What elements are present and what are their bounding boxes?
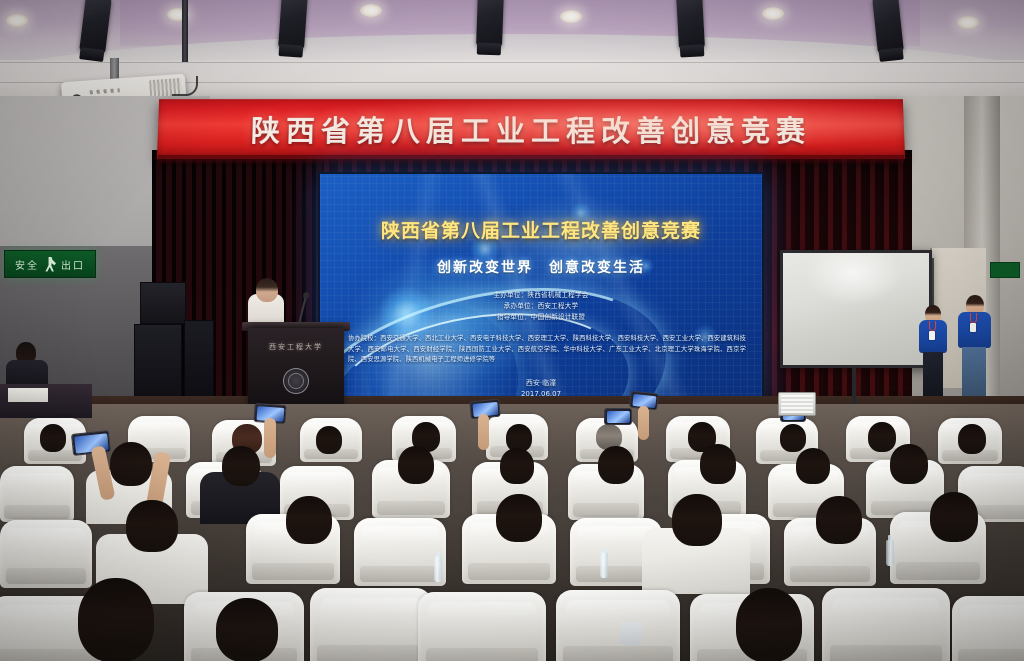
volunteer-legs (962, 347, 986, 396)
audience-chair (310, 588, 432, 661)
name-badge (970, 323, 976, 332)
audience-head (868, 422, 896, 452)
led-organizers: 主办单位：陕西省机械工程学会 承办单位：西安工程大学 指导单位：中国创新设计联盟 (320, 290, 762, 323)
led-cohosts-list: 西安交通大学、西北工业大学、西安电子科技大学、西安理工大学、陕西科技大学、西安科… (348, 335, 746, 363)
photo-scene: 安全 出口 陕西省第八届工业工程改善创意竞赛 陕西省第八届工业工程改善创意竞赛 … (0, 0, 1024, 661)
water-bottle[interactable] (600, 552, 608, 578)
audience-head (110, 442, 152, 486)
ceiling-truss-pole (182, 0, 188, 62)
banner-bottom-shadow (158, 155, 904, 165)
secondary-exit-sign (990, 262, 1020, 278)
exit-sign-text-right: 出口 (61, 257, 85, 272)
audience-head (598, 446, 634, 484)
water-bottle[interactable] (886, 540, 894, 566)
pa-speaker-cabinet (134, 324, 182, 402)
laptop[interactable] (778, 392, 816, 416)
podium-institution-label: 西安工程大学 (248, 342, 344, 352)
projector-mount (110, 58, 119, 80)
audience-head (40, 424, 66, 452)
stage-spotlight (872, 0, 904, 53)
audience-head (78, 578, 154, 661)
audience-head (890, 444, 928, 484)
led-cohosts: 协办院校：西安交通大学、西北工业大学、西安电子科技大学、西安理工大学、陕西科技大… (348, 334, 746, 366)
led-display-screen: 陕西省第八届工业工程改善创意竞赛 创新改变世界 创意改变生活 主办单位：陕西省机… (318, 172, 764, 410)
running-man-icon (44, 257, 56, 272)
banner-title: 陕西省第八届工业工程改善创意竞赛 (157, 108, 905, 150)
pa-speaker-cabinet (184, 320, 214, 404)
drink-cup[interactable] (620, 622, 642, 646)
audience-head (700, 444, 736, 484)
audience-head (222, 446, 260, 486)
led-location: 西安·临潼 (320, 378, 762, 389)
audience-head (216, 598, 278, 661)
downlight (6, 14, 28, 27)
ceiling (0, 0, 1024, 62)
audience-head (796, 448, 830, 484)
audience-head (930, 492, 978, 542)
presenter-head (256, 278, 278, 302)
downlight (360, 4, 382, 17)
lanyard-icon (929, 321, 936, 331)
audience-head (736, 588, 802, 661)
audience-chair (556, 590, 680, 661)
led-cohosts-label: 协办院校： (348, 335, 380, 342)
raised-arm (478, 414, 489, 450)
audience-head (672, 494, 722, 546)
stage-spotlight (278, 0, 308, 49)
water-bottle[interactable] (434, 556, 442, 582)
audience-head (398, 446, 434, 484)
audience-chair (418, 592, 546, 661)
audience-head (496, 494, 542, 542)
led-organizer-line: 主办单位：陕西省机械工程学会 (320, 290, 762, 301)
led-subtitle: 创新改变世界 创意改变生活 (320, 257, 762, 277)
downlight (560, 10, 582, 23)
university-seal-icon (283, 368, 309, 394)
stage-spotlight (676, 0, 705, 49)
projection-screen-surface (783, 253, 929, 365)
lanyard-icon (970, 313, 977, 323)
projector-buttons (90, 88, 120, 94)
led-organizer-line: 指导单位：中国创新设计联盟 (320, 312, 762, 323)
mobile-phone[interactable] (604, 408, 632, 425)
pa-speaker-cabinet (140, 282, 186, 324)
audience-head (816, 496, 862, 544)
downlight (957, 16, 979, 29)
audience-chair (0, 466, 74, 522)
audience-head (780, 424, 806, 452)
stage-spotlight (476, 0, 504, 46)
audience-head (958, 424, 986, 454)
name-badge (929, 331, 935, 340)
audience-head (126, 500, 178, 552)
downlight (762, 7, 784, 20)
av-table-papers (8, 388, 48, 402)
audience-head (316, 426, 342, 454)
volunteer-legs (923, 352, 943, 396)
led-organizer-line: 承办单位：西安工程大学 (320, 301, 762, 312)
raised-arm (264, 418, 276, 458)
audience-chair (354, 518, 446, 586)
audience-head (286, 496, 332, 544)
overhead-banner: 陕西省第八届工业工程改善创意竞赛 (157, 99, 905, 159)
exit-sign-text-left: 安全 (15, 257, 39, 272)
audience-chair (952, 596, 1024, 661)
raised-arm (638, 406, 649, 440)
audience-head (500, 448, 534, 484)
podium: 西安工程大学 (248, 328, 344, 412)
emergency-exit-sign: 安全 出口 (4, 250, 96, 278)
projection-screen (780, 250, 932, 368)
audience-chair (0, 520, 92, 588)
audience-chair (822, 588, 950, 661)
led-title: 陕西省第八届工业工程改善创意竞赛 (320, 216, 762, 243)
